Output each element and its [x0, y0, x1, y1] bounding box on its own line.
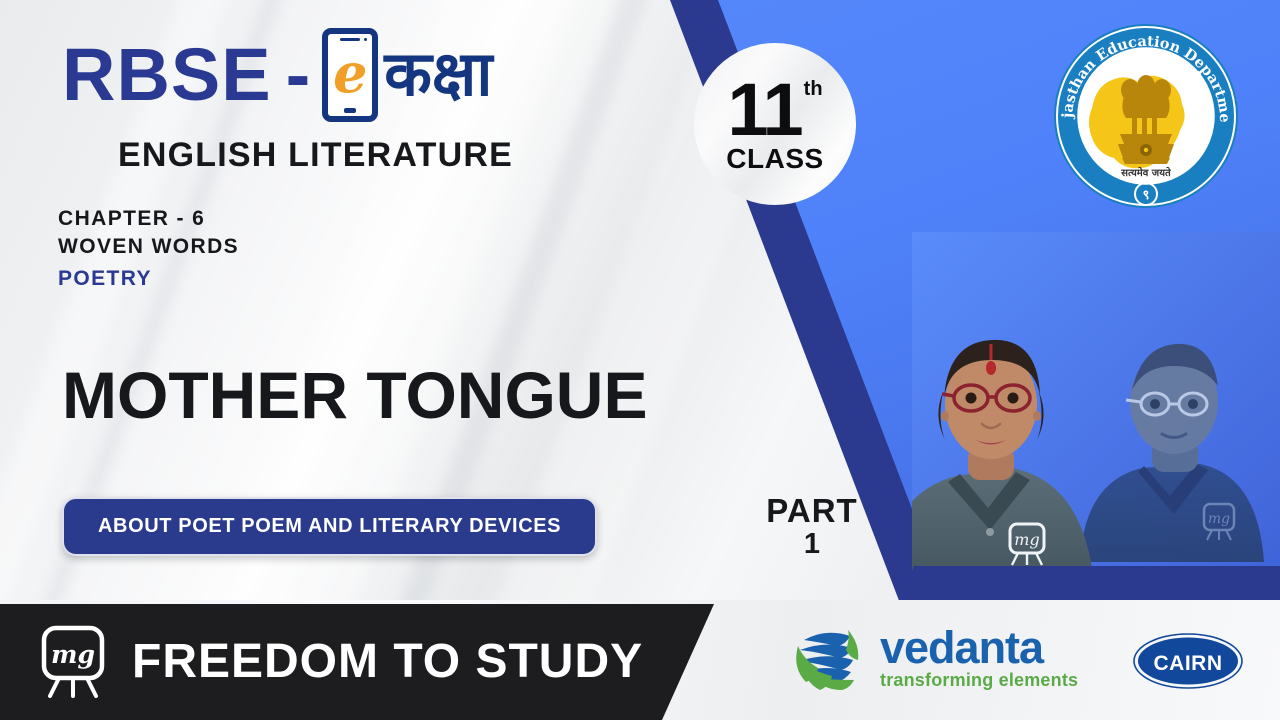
class-ordinal-suffix: th — [804, 79, 823, 99]
photo-base-navy-bar — [900, 566, 1280, 600]
instructor-photos: mg — [912, 232, 1280, 584]
vedanta-name: vedanta — [880, 627, 1078, 670]
emblem-motto: सत्यमेव जयते — [1120, 166, 1172, 179]
svg-text:९: ९ — [1143, 188, 1150, 203]
class-number-row: 11 th — [727, 73, 822, 147]
thumbnail-canvas: mg — [0, 0, 1280, 720]
vedanta-tagline: transforming elements — [880, 671, 1078, 691]
platform-name-hindi: कक्षा — [384, 44, 492, 106]
chapter-info: CHAPTER - 6 WOVEN WORDS POETRY — [58, 205, 239, 295]
e-letter: e — [333, 46, 367, 100]
footer-tagline: FREEDOM TO STUDY — [132, 634, 643, 689]
brand-dash: - — [286, 38, 311, 112]
brand-logo: RBSE - e कक्षा — [62, 28, 492, 122]
vedanta-globe-icon — [790, 620, 868, 698]
chapter-genre: POETRY — [58, 262, 239, 296]
smartphone-icon: e — [322, 28, 378, 122]
part-number: 1 — [762, 529, 862, 559]
subject-title: ENGLISH LITERATURE — [118, 136, 513, 175]
class-badge: 11 th CLASS — [694, 43, 856, 205]
rajasthan-education-department-emblem: सत्यमेव जयते Rajasthan Education Departm… — [1046, 16, 1246, 216]
board-name: RBSE — [62, 38, 272, 112]
cairn-name: CAIRN — [1154, 652, 1223, 675]
class-label: CLASS — [726, 143, 823, 175]
svg-text:mg: mg — [1014, 530, 1039, 549]
phone-speaker — [340, 38, 360, 41]
chapter-number: CHAPTER - 6 — [58, 205, 239, 233]
topic-badge: ABOUT POET POEM AND LITERARY DEVICES — [62, 497, 597, 556]
svg-text:mg: mg — [51, 640, 95, 669]
chapter-book: WOVEN WORDS — [58, 233, 239, 261]
page-title: MOTHER TONGUE — [62, 357, 647, 433]
svg-text:mg: mg — [1208, 511, 1230, 527]
part-indicator: PART 1 — [762, 494, 862, 559]
vedanta-logo: vedanta transforming elements — [790, 620, 1078, 698]
mg-easel-logo: mg — [36, 622, 114, 700]
class-number: 11 — [727, 73, 801, 147]
vedanta-text: vedanta transforming elements — [880, 627, 1078, 692]
shirt-mg-logo: mg — [1010, 524, 1044, 565]
phone-home-button — [344, 108, 356, 113]
instructor-photo-svg: mg — [912, 232, 1280, 584]
part-label: PART — [762, 494, 862, 529]
cairn-oval-logo: CAIRN — [1132, 632, 1244, 690]
